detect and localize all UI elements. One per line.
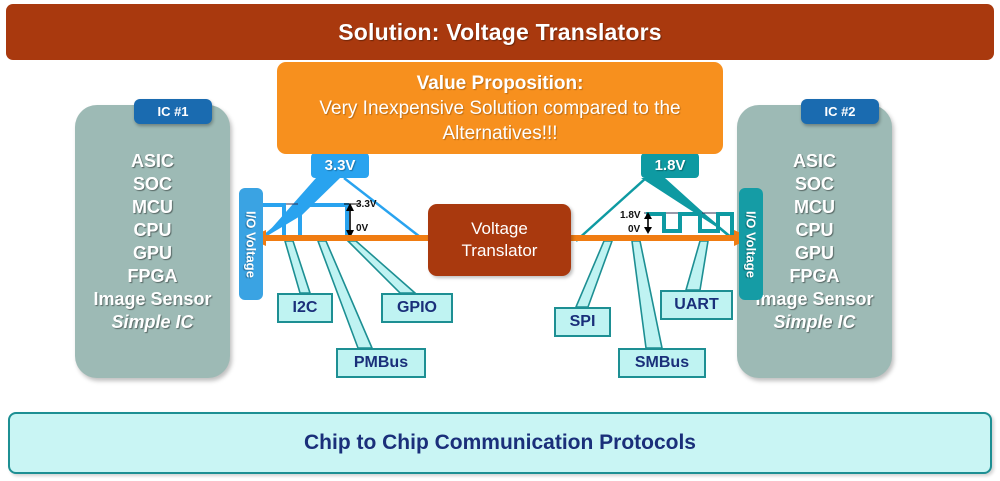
- voltage-callout-33v: 3.3V: [311, 153, 369, 178]
- leader-uart: [686, 241, 708, 290]
- protocol-tag-uart-label: UART: [674, 296, 718, 314]
- chip-badge-ic1: IC #1: [134, 99, 212, 124]
- chip-badge-ic1-label: IC #1: [157, 104, 188, 119]
- leader-spi: [576, 241, 612, 307]
- chip-ic2-item-fpga: FPGA: [755, 265, 873, 288]
- waveform-right: [646, 214, 732, 238]
- callout-tail-right: [641, 178, 735, 239]
- chip-block-ic1: ASIC SOC MCU CPU GPU FPGA Image Sensor S…: [75, 105, 230, 378]
- leader-smbus: [632, 241, 662, 348]
- voltage-callout-18v-label: 1.8V: [655, 157, 686, 174]
- chip-ic1-item-mcu: MCU: [93, 196, 211, 219]
- voltage-translator-line1: Voltage: [471, 218, 528, 240]
- callout-guide-left-a: [258, 178, 334, 241]
- protocol-tag-pmbus-label: PMBus: [354, 354, 408, 372]
- chip-ic2-feature-list: ASIC SOC MCU CPU GPU FPGA Image Sensor S…: [755, 150, 873, 334]
- protocol-tag-smbus-label: SMBus: [635, 354, 689, 372]
- callout-guide-right-b: [660, 178, 734, 240]
- io-voltage-tab-left-label: I/O Voltage: [244, 211, 259, 278]
- title-banner-text: Solution: Voltage Translators: [338, 19, 662, 46]
- chip-ic2-item-image-sensor: Image Sensor: [755, 288, 873, 311]
- protocol-tag-spi: SPI: [554, 307, 611, 337]
- voltage-callout-18v: 1.8V: [641, 153, 699, 178]
- protocol-tag-i2c-label: I2C: [293, 299, 318, 317]
- chip-ic1-item-image-sensor: Image Sensor: [93, 288, 211, 311]
- protocol-tag-smbus: SMBus: [618, 348, 706, 378]
- waveform-right-low-label: 0V: [628, 224, 640, 235]
- chip-badge-ic2: IC #2: [801, 99, 879, 124]
- value-proposition-heading: Value Proposition:: [417, 71, 584, 96]
- chip-ic1-item-soc: SOC: [93, 173, 211, 196]
- chip-ic1-item-gpu: GPU: [93, 242, 211, 265]
- protocol-tag-pmbus: PMBus: [336, 348, 426, 378]
- leader-gpio: [348, 241, 415, 293]
- chip-ic2-item-cpu: CPU: [755, 219, 873, 242]
- value-proposition-line1: Very Inexpensive Solution compared to th…: [319, 96, 680, 121]
- chip-ic2-item-mcu: MCU: [755, 196, 873, 219]
- chip-ic1-feature-list: ASIC SOC MCU CPU GPU FPGA Image Sensor S…: [93, 150, 211, 334]
- chip-ic1-item-asic: ASIC: [93, 150, 211, 173]
- amplitude-arrowhead-right-up: [644, 212, 652, 219]
- chip-ic1-item-fpga: FPGA: [93, 265, 211, 288]
- callout-tail-left: [262, 178, 340, 239]
- protocol-tag-uart: UART: [660, 290, 733, 320]
- slide-canvas: Solution: Voltage Translators: [0, 0, 1000, 481]
- chip-ic2-item-soc: SOC: [755, 173, 873, 196]
- protocol-tag-gpio-label: GPIO: [397, 299, 437, 317]
- amplitude-arrowhead-right-down: [644, 227, 652, 234]
- waveform-right-high-label: 1.8V: [620, 210, 641, 221]
- amplitude-arrowhead-left-down: [346, 230, 354, 238]
- value-proposition-line2: Alternatives!!!: [442, 121, 557, 146]
- voltage-translator-box: Voltage Translator: [428, 204, 571, 276]
- io-voltage-tab-left: I/O Voltage: [239, 188, 263, 300]
- bottom-banner: Chip to Chip Communication Protocols: [8, 412, 992, 474]
- chip-ic2-item-asic: ASIC: [755, 150, 873, 173]
- voltage-callout-33v-label: 3.3V: [325, 157, 356, 174]
- leader-i2c: [285, 241, 310, 293]
- chip-ic1-item-simple-ic: Simple IC: [93, 311, 211, 334]
- value-proposition-box: Value Proposition: Very Inexpensive Solu…: [277, 62, 723, 154]
- title-banner: Solution: Voltage Translators: [6, 4, 994, 60]
- bottom-banner-text: Chip to Chip Communication Protocols: [304, 431, 696, 455]
- amplitude-arrowhead-left-up: [346, 203, 354, 211]
- chip-ic2-item-simple-ic: Simple IC: [755, 311, 873, 334]
- protocol-tag-spi-label: SPI: [570, 313, 596, 331]
- chip-ic2-item-gpu: GPU: [755, 242, 873, 265]
- waveform-left: [262, 205, 355, 237]
- chip-ic1-item-cpu: CPU: [93, 219, 211, 242]
- waveform-left-high-label: 3.3V: [356, 199, 377, 210]
- waveform-left-low-label: 0V: [356, 223, 368, 234]
- protocol-tag-gpio: GPIO: [381, 293, 453, 323]
- chip-badge-ic2-label: IC #2: [824, 104, 855, 119]
- io-voltage-tab-right: I/O Voltage: [739, 188, 763, 300]
- io-voltage-tab-right-label: I/O Voltage: [744, 211, 759, 278]
- protocol-tag-i2c: I2C: [277, 293, 333, 323]
- voltage-translator-line2: Translator: [462, 240, 538, 262]
